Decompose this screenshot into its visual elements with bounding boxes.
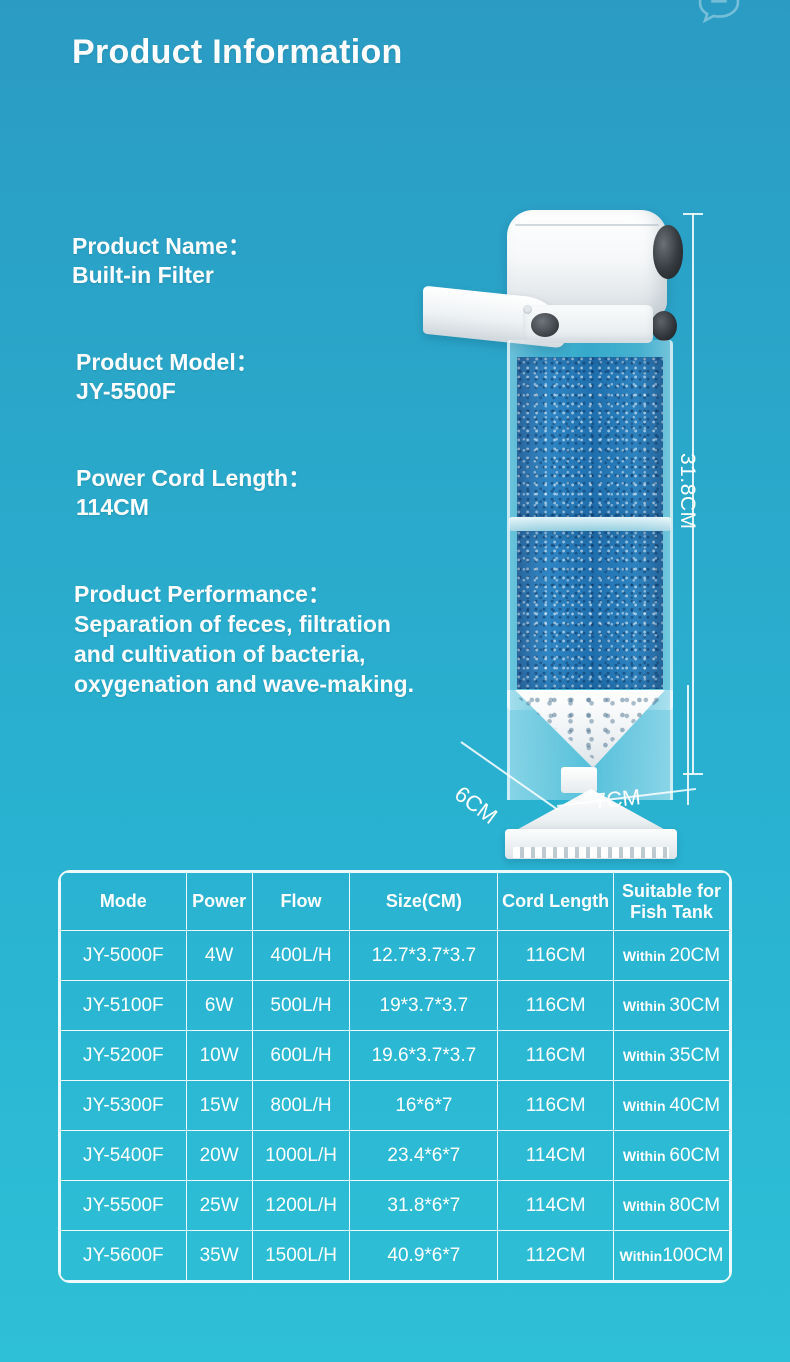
mode-cell: JY-5000F — [61, 931, 187, 981]
spout-knob-icon — [523, 305, 532, 314]
cord-length-cell: 116CM — [498, 1031, 614, 1081]
flow-cell: 1500L/H — [252, 1231, 350, 1281]
suitable-tank-cell: Within 60CM — [614, 1131, 730, 1181]
power-cell: 35W — [186, 1231, 252, 1281]
column-header-power: Power — [186, 873, 252, 931]
suitable-tank-value: 40CM — [669, 1095, 720, 1116]
spec-performance-value: Separation of feces, filtration and cult… — [74, 610, 414, 700]
suitable-tank-cell: Within 35CM — [614, 1031, 730, 1081]
size-cell: 19.6*3.7*3.7 — [350, 1031, 498, 1081]
column-header-mode: Mode — [61, 873, 187, 931]
product-image: 31.8CM 6CM 7CM — [415, 185, 725, 805]
column-header-cord-length: Cord Length — [498, 873, 614, 931]
table-row: JY-5400F20W1000L/H23.4*6*7114CMWithin 60… — [61, 1131, 730, 1181]
page-title: Product Information — [72, 33, 403, 72]
flow-cell: 500L/H — [252, 981, 350, 1031]
table-row: JY-5300F15W800L/H16*6*7116CMWithin 40CM — [61, 1081, 730, 1131]
table-body: JY-5000F4W400L/H12.7*3.7*3.7116CMWithin … — [61, 931, 730, 1281]
suitable-tank-prefix: Within — [623, 1198, 670, 1214]
spec-product-name-value: Built-in Filter — [72, 261, 251, 290]
spec-product-name-label: Product Name： — [72, 232, 251, 261]
suitable-tank-value: 30CM — [669, 995, 720, 1016]
flow-cell: 600L/H — [252, 1031, 350, 1081]
table-row: JY-5500F25W1200L/H31.8*6*7114CMWithin 80… — [61, 1181, 730, 1231]
spec-cord-length-value: 114CM — [76, 493, 311, 522]
table-row: JY-5000F4W400L/H12.7*3.7*3.7116CMWithin … — [61, 931, 730, 981]
mode-cell: JY-5600F — [61, 1231, 187, 1281]
filter-media-upper — [517, 357, 663, 517]
flow-cell: 1000L/H — [252, 1131, 350, 1181]
spec-cord-length-label: Power Cord Length： — [76, 464, 311, 493]
mode-cell: JY-5300F — [61, 1081, 187, 1131]
suitable-tank-prefix: Within — [623, 948, 670, 964]
mode-cell: JY-5400F — [61, 1131, 187, 1181]
filter-media-lower — [517, 531, 663, 689]
base-intake-slots — [513, 847, 669, 858]
suitable-tank-value: 35CM — [669, 1045, 720, 1066]
suitable-tank-cell: Within100CM — [614, 1231, 730, 1281]
size-cell: 19*3.7*3.7 — [350, 981, 498, 1031]
table-header-row: Mode Power Flow Size(CM) Cord Length Sui… — [61, 873, 730, 931]
cord-length-cell: 116CM — [498, 1081, 614, 1131]
spec-cord-length: Power Cord Length： 114CM — [76, 464, 311, 523]
filter-media-divider — [509, 517, 671, 531]
height-dimension-cap-top — [683, 213, 703, 215]
suitable-tank-cell: Within 20CM — [614, 931, 730, 981]
size-cell: 40.9*6*7 — [350, 1231, 498, 1281]
column-header-suitable-fish-tank: Suitable for Fish Tank — [614, 873, 730, 931]
motor-seam — [515, 224, 659, 226]
power-cell: 25W — [186, 1181, 252, 1231]
column-header-size: Size(CM) — [350, 873, 498, 931]
power-cell: 15W — [186, 1081, 252, 1131]
size-cell: 16*6*7 — [350, 1081, 498, 1131]
height-dimension-label: 31.8CM — [675, 453, 699, 530]
spec-performance-label: Product Performance： — [74, 580, 414, 610]
spec-product-model: Product Model： JY-5500F — [76, 348, 259, 407]
suitable-tank-value: 80CM — [669, 1195, 720, 1216]
mode-cell: JY-5500F — [61, 1181, 187, 1231]
spec-performance: Product Performance： Separation of feces… — [74, 580, 414, 700]
cord-length-cell: 114CM — [498, 1181, 614, 1231]
power-cell: 4W — [186, 931, 252, 981]
suitable-tank-value: 20CM — [669, 945, 720, 966]
height-dimension-cap-bottom — [683, 773, 703, 775]
intake-port-icon — [531, 313, 559, 337]
suitable-tank-prefix: Within — [623, 1098, 670, 1114]
suitable-tank-cell: Within 30CM — [614, 981, 730, 1031]
flow-cell: 800L/H — [252, 1081, 350, 1131]
base-stem — [561, 767, 597, 793]
cord-length-cell: 112CM — [498, 1231, 614, 1281]
power-cell: 10W — [186, 1031, 252, 1081]
table-row: JY-5200F10W600L/H19.6*3.7*3.7116CMWithin… — [61, 1031, 730, 1081]
size-cell: 31.8*6*7 — [350, 1181, 498, 1231]
cord-length-cell: 116CM — [498, 931, 614, 981]
power-cell: 20W — [186, 1131, 252, 1181]
table-row: JY-5600F35W1500L/H40.9*6*7112CMWithin100… — [61, 1231, 730, 1281]
specification-table: Mode Power Flow Size(CM) Cord Length Sui… — [60, 872, 730, 1281]
suitable-tank-value: 60CM — [669, 1145, 720, 1166]
depth-dimension-label: 6CM — [449, 781, 502, 830]
suitable-tank-prefix: Within — [623, 1048, 670, 1064]
column-header-flow: Flow — [252, 873, 350, 931]
suitable-tank-cell: Within 80CM — [614, 1181, 730, 1231]
suitable-tank-cell: Within 40CM — [614, 1081, 730, 1131]
width-dimension-label: 7CM — [593, 784, 642, 815]
outlet-nozzle-icon — [653, 225, 683, 279]
mode-cell: JY-5100F — [61, 981, 187, 1031]
size-cell: 12.7*3.7*3.7 — [350, 931, 498, 981]
cord-length-cell: 114CM — [498, 1131, 614, 1181]
flow-cell: 400L/H — [252, 931, 350, 981]
spec-product-model-label: Product Model： — [76, 348, 259, 377]
outlet-nozzle-lower-icon — [651, 311, 677, 341]
width-dimension-riser — [687, 685, 689, 805]
mode-cell: JY-5200F — [61, 1031, 187, 1081]
cord-length-cell: 116CM — [498, 981, 614, 1031]
flow-cell: 1200L/H — [252, 1181, 350, 1231]
size-cell: 23.4*6*7 — [350, 1131, 498, 1181]
suitable-tank-prefix: Within — [623, 998, 670, 1014]
table-row: JY-5100F6W500L/H19*3.7*3.7116CMWithin 30… — [61, 981, 730, 1031]
power-cell: 6W — [186, 981, 252, 1031]
suitable-tank-prefix: Within — [620, 1248, 663, 1264]
spec-product-model-value: JY-5500F — [76, 377, 259, 406]
suitable-tank-value: 100CM — [662, 1245, 723, 1266]
suitable-tank-prefix: Within — [623, 1148, 670, 1164]
chat-bubble-icon[interactable] — [693, 0, 745, 34]
spec-product-name: Product Name： Built-in Filter — [72, 232, 251, 291]
